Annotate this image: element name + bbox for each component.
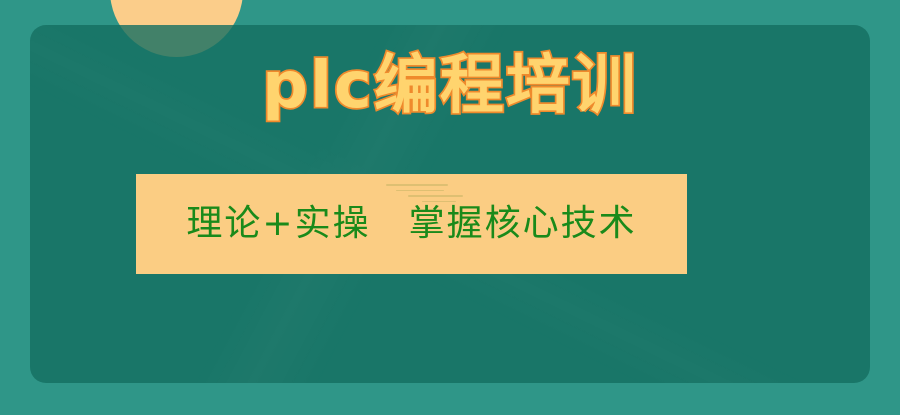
poster-canvas: plc编程培训 理论+实操 掌握核心技术 xyxy=(0,0,900,415)
watermark-line xyxy=(386,184,448,186)
watermark-line xyxy=(408,195,463,197)
page-title: plc编程培训 xyxy=(0,54,900,118)
subtitle-text: 理论+实操 掌握核心技术 xyxy=(186,206,636,242)
watermark-line xyxy=(396,190,444,192)
subtitle-banner: 理论+实操 掌握核心技术 xyxy=(136,174,687,274)
watermark-line xyxy=(422,201,456,203)
